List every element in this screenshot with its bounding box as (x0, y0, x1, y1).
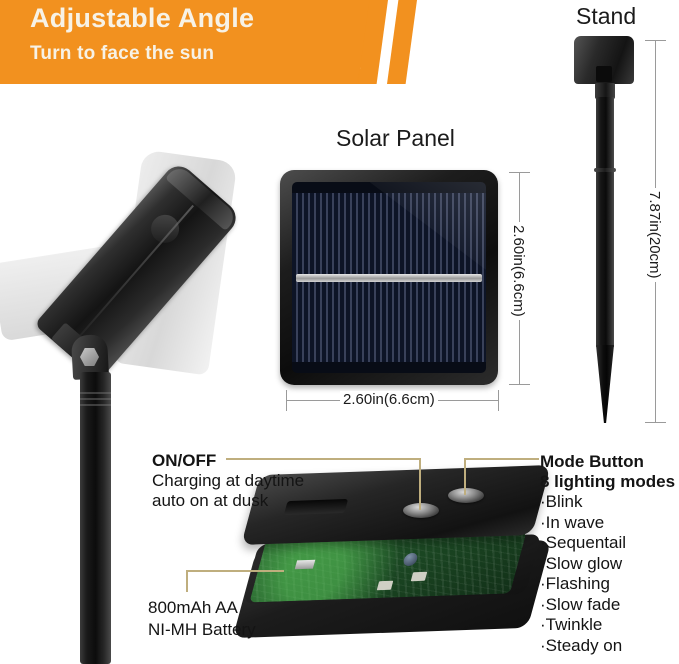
panel-height-dimension-text: 2.60in(6.6cm) (510, 222, 527, 320)
panel-width-tick-right (498, 390, 499, 411)
onoff-leader-vertical (419, 458, 421, 510)
battery-leader-horizontal (186, 570, 284, 572)
banner-subtitle: Turn to face the sun (30, 43, 214, 65)
pole-ring-2 (80, 398, 111, 400)
solar-panel-busbar (296, 274, 482, 282)
mode-leader-vertical (464, 458, 466, 495)
onoff-annotation-line-2: auto on at dusk (152, 491, 268, 511)
banner-title: Adjustable Angle (30, 3, 254, 34)
battery-annotation-line-2: NI-MH Battery (148, 620, 256, 640)
mode-annotation-subtitle: 8 lighting modes (540, 472, 675, 492)
pcb-chip-1 (377, 581, 394, 590)
mode-annotation-title: Mode Button (540, 452, 644, 472)
stand-height-tick-bottom (645, 422, 666, 423)
pcb-chip-2 (411, 572, 428, 581)
lighting-mode-item: ·Steady on (540, 636, 626, 657)
onoff-annotation-title: ON/OFF (152, 451, 216, 471)
lighting-mode-item: ·Slow fade (540, 595, 626, 616)
solar-panel-glass (292, 182, 486, 373)
banner-stripe-2 (387, 0, 417, 84)
battery-annotation-line-1: 800mAh AA (148, 598, 238, 618)
housing-cover-slot (284, 499, 348, 515)
onoff-button[interactable] (403, 503, 439, 518)
panel-height-tick-bottom (509, 384, 530, 385)
pole-ring-3 (80, 404, 111, 406)
stand-joint-ring (594, 168, 616, 172)
pcb-connector (295, 560, 316, 570)
lamp-pole (80, 372, 111, 664)
panel-width-tick-left (286, 390, 287, 411)
pole-ring-1 (80, 392, 111, 394)
lighting-mode-item: ·Flashing (540, 574, 626, 595)
solar-panel-label: Solar Panel (336, 125, 455, 152)
onoff-leader-horizontal (226, 458, 420, 460)
stand-height-tick-top (645, 40, 666, 41)
lighting-modes-list: ·Blink·In wave·Sequentail·Slow glow·Flas… (540, 492, 626, 656)
lighting-mode-item: ·In wave (540, 513, 626, 534)
onoff-annotation-line-1: Charging at daytime (152, 471, 304, 491)
lamp-sensor-dot (145, 209, 185, 249)
mode-leader-horizontal (464, 458, 539, 460)
lighting-mode-item: ·Blink (540, 492, 626, 513)
lighting-mode-item: ·Slow glow (540, 554, 626, 575)
panel-width-dimension-text: 2.60in(6.6cm) (340, 391, 438, 408)
stand-height-dimension-text: 7.87in(20cm) (646, 188, 663, 282)
stand-head-slot (596, 66, 612, 82)
panel-height-tick-top (509, 172, 530, 173)
mode-button[interactable] (448, 488, 484, 503)
battery-leader-vertical (186, 570, 188, 592)
lighting-mode-item: ·Sequentail (540, 533, 626, 554)
stand-label: Stand (576, 3, 636, 30)
infographic-page: Adjustable Angle Turn to face the sun So… (0, 0, 679, 664)
stand-shaft (596, 97, 614, 347)
solar-panel (280, 170, 498, 385)
stand-ground-spike (596, 345, 614, 423)
lighting-mode-item: ·Twinkle (540, 615, 626, 636)
